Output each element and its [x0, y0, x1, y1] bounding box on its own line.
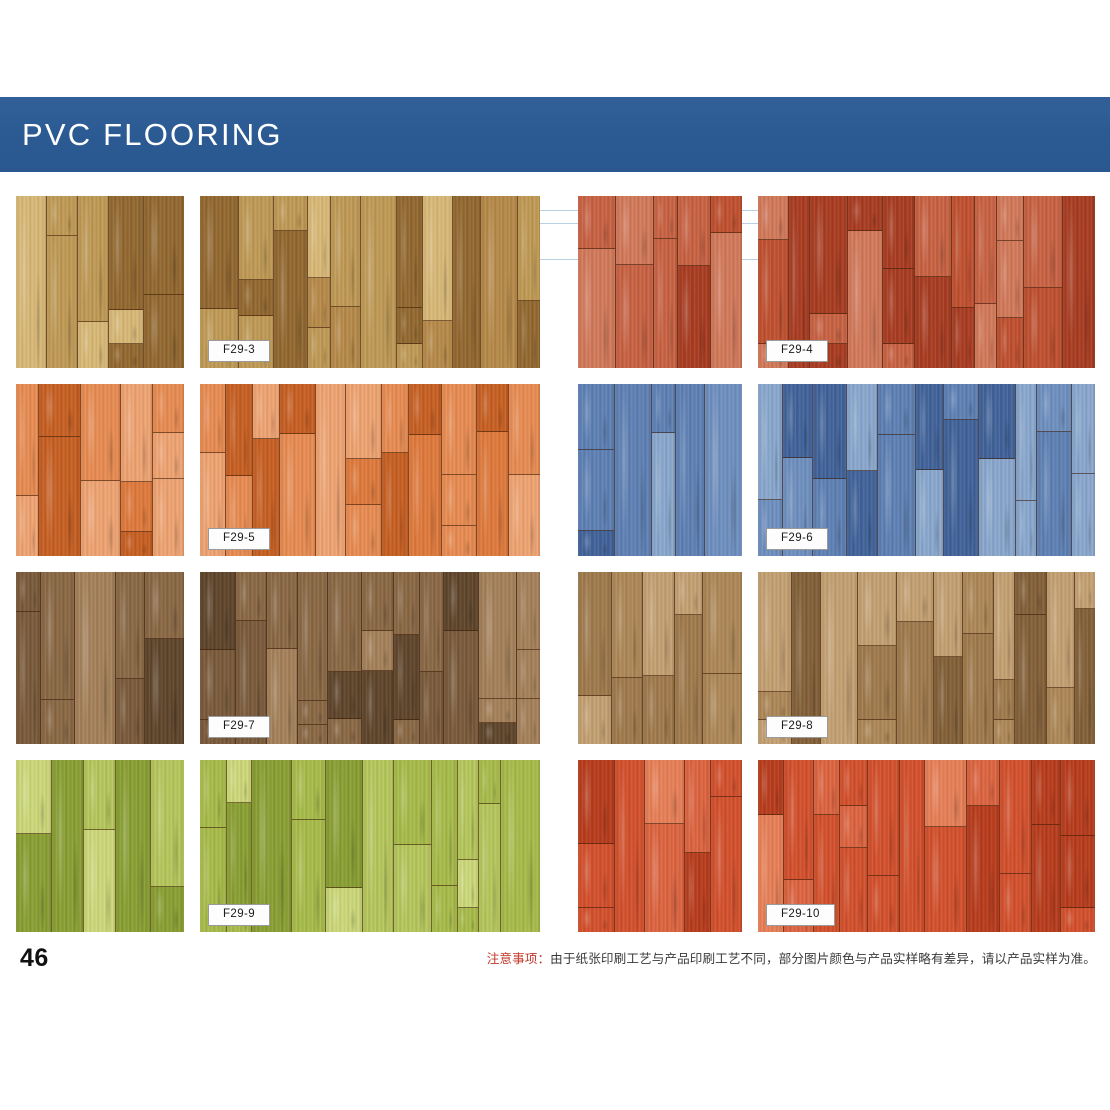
- plank: [153, 479, 184, 556]
- plank: [883, 269, 914, 344]
- plank: [783, 384, 812, 458]
- plank: [362, 671, 393, 744]
- plank: [848, 231, 882, 368]
- plank: [298, 725, 327, 744]
- plank-column: [363, 760, 394, 932]
- plank: [363, 760, 393, 932]
- plank-column: [420, 572, 444, 744]
- floor-swatch-f29-5[interactable]: [16, 384, 184, 556]
- plank: [848, 196, 882, 231]
- plank: [39, 437, 79, 556]
- plank: [331, 196, 360, 307]
- plank: [420, 572, 443, 672]
- floor-swatch-f29-6[interactable]: [578, 384, 742, 556]
- plank-column: [16, 384, 39, 556]
- plank-column: [346, 384, 382, 556]
- plank: [477, 432, 508, 556]
- plank: [847, 471, 877, 556]
- wood-plank-pattern: [578, 384, 742, 556]
- plank: [616, 196, 653, 265]
- plank: [578, 844, 614, 908]
- plank-column: [280, 384, 316, 556]
- floor-swatch-f29-8[interactable]: F29-8: [758, 572, 1095, 744]
- plank-column: [848, 196, 883, 368]
- plank: [1075, 609, 1095, 744]
- plank: [814, 760, 839, 815]
- plank: [253, 384, 280, 439]
- swatch-pair-f29-9: F29-9: [16, 760, 540, 932]
- wood-plank-pattern: [16, 760, 184, 932]
- plank-column: [915, 196, 951, 368]
- plank-column: [479, 572, 517, 744]
- plank-column: [578, 196, 616, 368]
- plank: [479, 723, 516, 744]
- plank: [121, 384, 152, 482]
- plank-column: [1032, 760, 1061, 932]
- plank-column: [481, 196, 518, 368]
- plank-column: [47, 196, 79, 368]
- plank: [109, 196, 143, 310]
- plank-column: [121, 384, 153, 556]
- plank: [274, 231, 306, 368]
- plank: [394, 845, 431, 932]
- plank-column: [900, 760, 925, 932]
- plank: [78, 196, 107, 322]
- plank-column: [423, 196, 453, 368]
- floor-swatch-f29-10[interactable]: [578, 760, 742, 932]
- floor-swatch-f29-9[interactable]: F29-9: [200, 760, 540, 932]
- plank: [878, 384, 914, 435]
- plank: [458, 860, 479, 908]
- plank: [847, 384, 877, 471]
- plank-column: [703, 572, 742, 744]
- plank: [1037, 384, 1071, 432]
- plank: [453, 196, 481, 368]
- plank: [758, 760, 783, 815]
- plank-column: [453, 196, 482, 368]
- disclaimer-text: 由于纸张印刷工艺与产品印刷工艺不同，部分图片颜色与产品实样略有差异，请以产品实样…: [550, 952, 1096, 966]
- plank: [758, 196, 788, 240]
- swatch-pair-f29-7: F29-7: [16, 572, 540, 744]
- plank: [121, 482, 152, 532]
- plank-column: [394, 760, 432, 932]
- plank: [144, 196, 184, 295]
- plank: [858, 646, 896, 720]
- plank-column: [362, 572, 394, 744]
- plank-column: [442, 384, 477, 556]
- plank-column: [952, 196, 976, 368]
- plank: [840, 806, 867, 848]
- plank-column: [292, 760, 326, 932]
- wood-plank-pattern: [16, 384, 184, 556]
- plank: [479, 760, 500, 804]
- page-number: 46: [20, 944, 49, 973]
- plank: [994, 680, 1014, 720]
- plank: [1016, 501, 1036, 556]
- swatch-code-label: F29-10: [766, 904, 835, 926]
- plank-column: [479, 760, 501, 932]
- plank: [952, 308, 975, 368]
- plank: [711, 760, 742, 797]
- plank-column: [382, 384, 409, 556]
- plank: [858, 572, 896, 646]
- plank: [153, 384, 184, 433]
- plank: [1072, 474, 1095, 556]
- plank-column: [16, 760, 52, 932]
- swatch-code-label: F29-3: [208, 340, 270, 362]
- plank: [711, 797, 742, 932]
- swatch-code-label: F29-6: [766, 528, 828, 550]
- plank: [616, 265, 653, 368]
- plank: [509, 475, 540, 556]
- plank-column: [616, 196, 654, 368]
- plank: [394, 760, 431, 845]
- plank: [316, 384, 345, 556]
- plank: [963, 572, 993, 634]
- plank: [934, 572, 962, 657]
- plank: [409, 435, 441, 556]
- plank: [226, 384, 252, 476]
- plank: [975, 196, 996, 304]
- plank: [151, 887, 184, 932]
- plank: [578, 696, 611, 744]
- plank-column: [897, 572, 935, 744]
- plank: [916, 384, 943, 470]
- plank: [151, 760, 184, 887]
- plank-column: [477, 384, 509, 556]
- plank: [444, 631, 478, 744]
- plank: [16, 496, 38, 556]
- plank: [517, 699, 540, 744]
- plank: [652, 433, 675, 556]
- plank: [711, 233, 742, 368]
- plank: [578, 908, 614, 932]
- plank: [678, 266, 711, 368]
- floor-swatch-f29-5[interactable]: F29-5: [200, 384, 540, 556]
- plank-column: [151, 760, 184, 932]
- plank-column: [444, 572, 479, 744]
- plank: [308, 328, 330, 368]
- plank: [16, 196, 46, 368]
- plank: [116, 572, 145, 679]
- plank: [1061, 760, 1095, 836]
- plank-column: [1061, 760, 1095, 932]
- disclaimer-note: 注意事项：由于纸张印刷工艺与产品印刷工艺不同，部分图片颜色与产品实样略有差异，请…: [487, 948, 1096, 967]
- plank: [643, 572, 674, 676]
- wood-plank-pattern: [578, 760, 742, 932]
- plank: [39, 384, 79, 437]
- plank: [1015, 615, 1046, 744]
- plank: [145, 639, 184, 744]
- plank-column: [518, 196, 540, 368]
- plank-column: [944, 384, 979, 556]
- plank: [153, 433, 184, 480]
- wood-plank-pattern: [16, 196, 184, 368]
- plank: [81, 481, 120, 556]
- plank-column: [409, 384, 442, 556]
- plank: [75, 572, 115, 744]
- plank-column: [858, 572, 897, 744]
- plank-column: [81, 384, 121, 556]
- plank-column: [1072, 384, 1095, 556]
- plank: [645, 824, 684, 932]
- plank: [997, 318, 1023, 368]
- plank-column: [1000, 760, 1032, 932]
- plank: [292, 760, 325, 820]
- plank: [654, 196, 677, 239]
- plank: [267, 649, 298, 744]
- plank: [1047, 572, 1074, 688]
- plank-column: [78, 196, 108, 368]
- plank-column: [116, 572, 146, 744]
- plank-column: [1075, 572, 1095, 744]
- plank: [394, 572, 420, 635]
- plank: [615, 760, 644, 932]
- plank-column: [979, 384, 1016, 556]
- plank: [382, 384, 408, 453]
- plank: [121, 532, 152, 556]
- wood-plank-pattern: [578, 196, 742, 368]
- floor-swatch-f29-8[interactable]: [578, 572, 742, 744]
- swatch-pair-f29-3: F29-3: [16, 196, 540, 368]
- plank: [1032, 760, 1060, 825]
- plank: [47, 236, 78, 368]
- plank-column: [868, 760, 900, 932]
- plank: [612, 678, 643, 744]
- plank-column: [615, 760, 645, 932]
- plank: [994, 720, 1014, 744]
- floor-swatch-f29-7[interactable]: F29-7: [200, 572, 540, 744]
- plank: [432, 886, 457, 932]
- plank: [1061, 836, 1095, 908]
- plank: [997, 196, 1023, 241]
- plank-column: [1063, 196, 1095, 368]
- plank: [944, 420, 978, 556]
- plank: [420, 672, 443, 744]
- plank: [915, 196, 950, 277]
- swatch-grid: F29-3F29-4F29-5F29-6F29-7F29-8F29-9F29-1…: [0, 196, 1110, 948]
- plank-column: [967, 760, 1000, 932]
- plank: [518, 301, 540, 368]
- plank-column: [274, 196, 307, 368]
- plank-column: [432, 760, 458, 932]
- plank-column: [308, 196, 331, 368]
- plank: [840, 848, 867, 932]
- swatch-row: F29-7F29-8: [0, 572, 1110, 760]
- plank: [1024, 288, 1061, 368]
- plank-column: [975, 196, 997, 368]
- plank: [81, 384, 120, 481]
- floor-swatch-f29-3[interactable]: F29-3: [200, 196, 540, 368]
- plank: [1024, 196, 1061, 288]
- swatch-pair-f29-5: F29-5: [16, 384, 540, 556]
- plank: [41, 700, 73, 744]
- plank: [711, 196, 742, 233]
- plank: [578, 249, 615, 368]
- plank: [915, 277, 950, 368]
- plank: [326, 760, 361, 888]
- plank: [328, 719, 360, 744]
- plank-column: [1037, 384, 1072, 556]
- plank: [883, 344, 914, 368]
- plank: [200, 196, 238, 309]
- plank-column: [676, 384, 705, 556]
- plank-column: [994, 572, 1015, 744]
- plank: [883, 196, 914, 269]
- plank: [116, 679, 145, 744]
- plank: [685, 853, 710, 932]
- plank: [897, 572, 934, 622]
- plank: [326, 888, 361, 932]
- plank: [361, 196, 397, 368]
- plank-column: [394, 572, 421, 744]
- plank: [868, 760, 899, 876]
- plank: [578, 572, 611, 696]
- floor-swatch-f29-9[interactable]: [16, 760, 184, 932]
- plank: [280, 434, 315, 556]
- plank: [685, 760, 710, 853]
- swatch-code-label: F29-9: [208, 904, 270, 926]
- plank-column: [116, 760, 151, 932]
- plank-column: [84, 760, 116, 932]
- swatch-row: F29-9F29-10: [0, 760, 1110, 948]
- plank-column: [509, 384, 540, 556]
- plank-column: [361, 196, 398, 368]
- plank: [346, 459, 381, 505]
- plank: [394, 720, 420, 744]
- plank-column: [458, 760, 480, 932]
- plank: [578, 384, 614, 450]
- plank-column: [1024, 196, 1062, 368]
- plank: [840, 760, 867, 806]
- plank-column: [501, 760, 540, 932]
- plank-column: [16, 196, 47, 368]
- floor-swatch-f29-4[interactable]: [578, 196, 742, 368]
- floor-swatch-f29-4[interactable]: F29-4: [758, 196, 1095, 368]
- floor-swatch-f29-3[interactable]: [16, 196, 184, 368]
- plank-column: [711, 760, 742, 932]
- plank: [109, 310, 143, 344]
- plank-column: [145, 572, 184, 744]
- plank-column: [963, 572, 994, 744]
- plank: [1032, 825, 1060, 932]
- plank: [200, 650, 235, 720]
- plank: [200, 572, 235, 650]
- plank: [227, 803, 252, 908]
- plank: [675, 615, 702, 744]
- plank: [477, 384, 508, 432]
- swatch-code-label: F29-4: [766, 340, 828, 362]
- plank: [813, 384, 846, 479]
- plank: [501, 760, 540, 932]
- plank: [868, 876, 899, 932]
- plank-column: [840, 760, 868, 932]
- plank: [308, 278, 330, 328]
- plank: [442, 526, 476, 555]
- plank: [810, 196, 847, 314]
- plank-column: [925, 760, 968, 932]
- plank: [394, 635, 420, 720]
- plank: [925, 760, 967, 827]
- plank: [84, 760, 115, 830]
- plank: [144, 295, 184, 368]
- plank-column: [1016, 384, 1037, 556]
- floor-swatch-f29-10[interactable]: F29-10: [758, 760, 1095, 932]
- plank: [997, 241, 1023, 318]
- plank-column: [52, 760, 84, 932]
- plank: [16, 572, 40, 612]
- plank: [298, 701, 327, 725]
- plank: [227, 760, 252, 803]
- plank-column: [654, 196, 678, 368]
- plank-column: [328, 572, 361, 744]
- plank: [675, 572, 702, 615]
- plank-column: [578, 572, 612, 744]
- plank: [578, 531, 614, 556]
- plank: [331, 307, 360, 368]
- plank: [16, 834, 51, 932]
- plank: [678, 196, 711, 266]
- plank: [239, 280, 274, 317]
- page-title: PVC FLOORING: [22, 117, 283, 153]
- plank: [703, 674, 742, 744]
- plank: [16, 384, 38, 496]
- plank-column: [685, 760, 711, 932]
- plank-column: [517, 572, 540, 744]
- plank: [52, 760, 83, 932]
- plank-column: [331, 196, 361, 368]
- wood-plank-pattern: [578, 572, 742, 744]
- plank-column: [643, 572, 675, 744]
- plank: [994, 572, 1014, 680]
- floor-swatch-f29-6[interactable]: F29-6: [758, 384, 1095, 556]
- plank-column: [612, 572, 644, 744]
- plank: [615, 384, 651, 556]
- plank: [481, 196, 517, 368]
- disclaimer-label: 注意事项：: [487, 952, 550, 966]
- plank-column: [397, 196, 423, 368]
- plank: [145, 572, 184, 639]
- plank: [1061, 908, 1095, 932]
- swatch-code-label: F29-7: [208, 716, 270, 738]
- plank: [784, 760, 813, 880]
- plank-column: [883, 196, 915, 368]
- plank: [423, 321, 452, 368]
- plank-column: [705, 384, 742, 556]
- plank: [444, 572, 478, 631]
- plank-column: [16, 572, 41, 744]
- plank: [479, 572, 516, 699]
- plank-column: [615, 384, 652, 556]
- floor-swatch-f29-7[interactable]: [16, 572, 184, 744]
- plank-column: [878, 384, 915, 556]
- plank: [509, 384, 540, 475]
- plank-column: [916, 384, 944, 556]
- plank: [979, 459, 1015, 556]
- plank: [934, 657, 962, 744]
- plank: [925, 827, 967, 932]
- plank-column: [847, 384, 878, 556]
- plank-column: [645, 760, 685, 932]
- plank: [409, 384, 441, 435]
- plank: [458, 760, 479, 860]
- plank-column: [1015, 572, 1047, 744]
- plank-column: [267, 572, 299, 744]
- plank: [362, 631, 393, 671]
- header-band: PVC FLOORING ITEM NAME THICKNESS WIDTH L…: [0, 97, 1110, 172]
- plank: [239, 196, 274, 280]
- plank: [274, 196, 306, 231]
